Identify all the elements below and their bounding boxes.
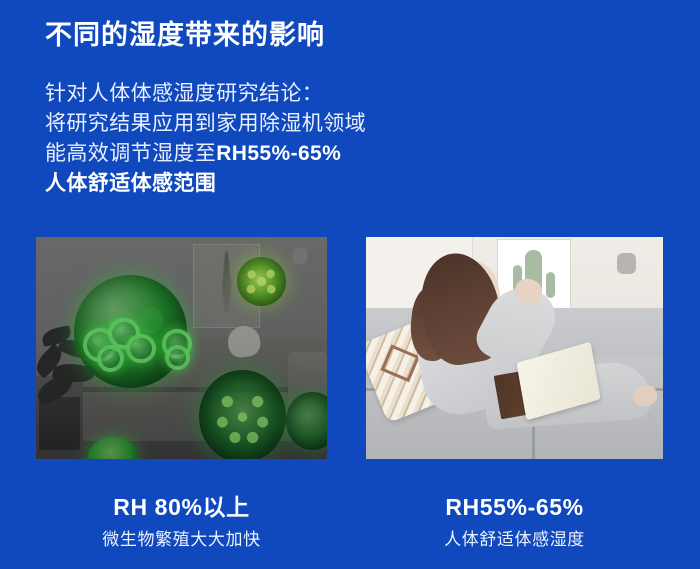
caption-high-humidity-sub: 微生物繁殖大大加快 bbox=[36, 528, 327, 552]
microbe-large-icon bbox=[74, 275, 187, 388]
microbe-bud-icon bbox=[97, 345, 124, 372]
humidity-infographic-poster: 不同的湿度带来的影响 针对人体体感湿度研究结论： 将研究结果应用到家用除湿机领域… bbox=[0, 0, 700, 569]
photo-comfort-humidity-inner bbox=[366, 237, 663, 459]
copy-line-1: 针对人体体感湿度研究结论： bbox=[45, 79, 445, 109]
photo-comfort-humidity bbox=[366, 237, 663, 459]
copy-line-3-highlight: RH55%-65% bbox=[216, 142, 341, 165]
caption-comfort-humidity-sub: 人体舒适体感湿度 bbox=[366, 528, 663, 552]
caption-high-humidity-head: RH 80%以上 bbox=[36, 492, 327, 522]
caption-high-humidity: RH 80%以上 微生物繁殖大大加快 bbox=[36, 492, 327, 552]
panel-captions: RH 80%以上 微生物繁殖大大加快 RH55%-65% 人体舒适体感湿度 bbox=[0, 492, 700, 562]
copy-line-3-prefix: 能高效调节湿度至 bbox=[45, 142, 216, 165]
body-copy-block: 针对人体体感湿度研究结论： 将研究结果应用到家用除湿机领域 能高效调节湿度至RH… bbox=[45, 79, 445, 199]
copy-line-4: 人体舒适体感范围 bbox=[45, 169, 445, 199]
woman-reading-figure bbox=[366, 237, 663, 459]
microbe-bottom-icon bbox=[199, 370, 286, 459]
microbe-top-icon bbox=[237, 257, 286, 306]
copy-line-3: 能高效调节湿度至RH55%-65% bbox=[45, 139, 445, 169]
caption-comfort-humidity: RH55%-65% 人体舒适体感湿度 bbox=[366, 492, 663, 552]
photo-high-humidity bbox=[36, 237, 327, 459]
copy-line-2: 将研究结果应用到家用除湿机领域 bbox=[45, 109, 445, 139]
dim-room-scene bbox=[36, 237, 327, 459]
microbe-bud-icon bbox=[165, 345, 190, 370]
page-title: 不同的湿度带来的影响 bbox=[45, 19, 325, 51]
photo-panels bbox=[0, 237, 700, 459]
bright-room-scene bbox=[366, 237, 663, 459]
photo-high-humidity-inner bbox=[36, 237, 327, 459]
microbe-bud-icon bbox=[126, 334, 156, 363]
caption-comfort-humidity-head: RH55%-65% bbox=[366, 492, 663, 522]
dim-plant-pot bbox=[39, 397, 80, 450]
wall-speaker-icon bbox=[293, 248, 307, 264]
